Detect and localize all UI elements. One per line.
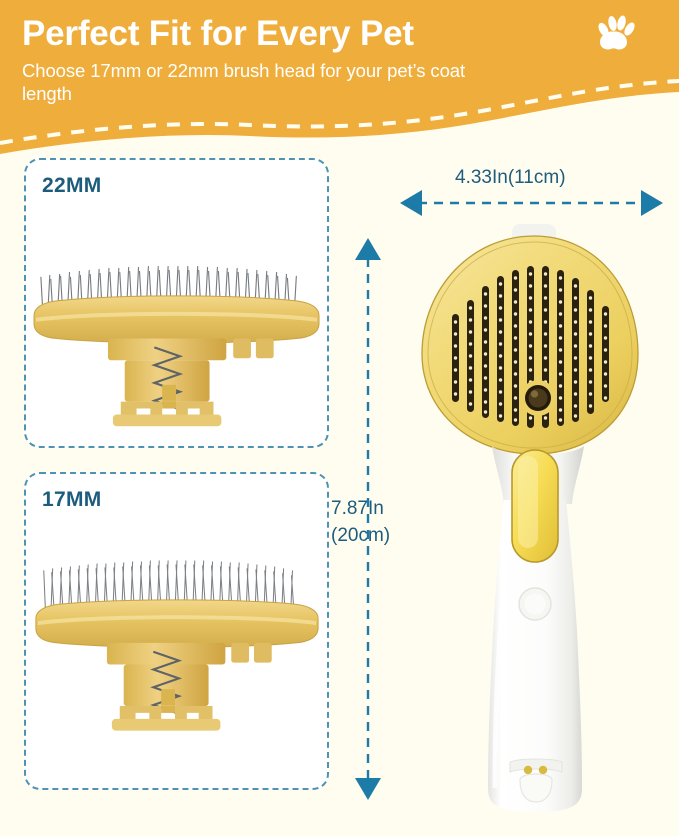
brush-head-22mm-icon xyxy=(26,160,327,446)
product-infographic: Perfect Fit for Every Pet Choose 17mm or… xyxy=(0,0,679,836)
dimension-height-line1: 7.87In xyxy=(331,495,390,522)
spec-card-17mm[interactable]: 17MM xyxy=(24,472,329,790)
page-title: Perfect Fit for Every Pet xyxy=(22,13,622,55)
dimension-height-line2: (20cm) xyxy=(331,522,390,549)
header-banner: Perfect Fit for Every Pet Choose 17mm or… xyxy=(0,0,679,160)
paw-icon xyxy=(594,13,636,55)
pet-grooming-brush-illustration xyxy=(400,222,670,822)
dimension-height-label: 7.87In (20cm) xyxy=(331,495,390,549)
page-subtitle: Choose 17mm or 22mm brush head for your … xyxy=(22,59,512,105)
spec-card-22mm[interactable]: 22MM xyxy=(24,158,329,448)
header-text-block: Perfect Fit for Every Pet Choose 17mm or… xyxy=(22,13,622,105)
brush-head-17mm-icon xyxy=(26,474,327,788)
dimension-width-label: 4.33In(11cm) xyxy=(455,167,566,189)
